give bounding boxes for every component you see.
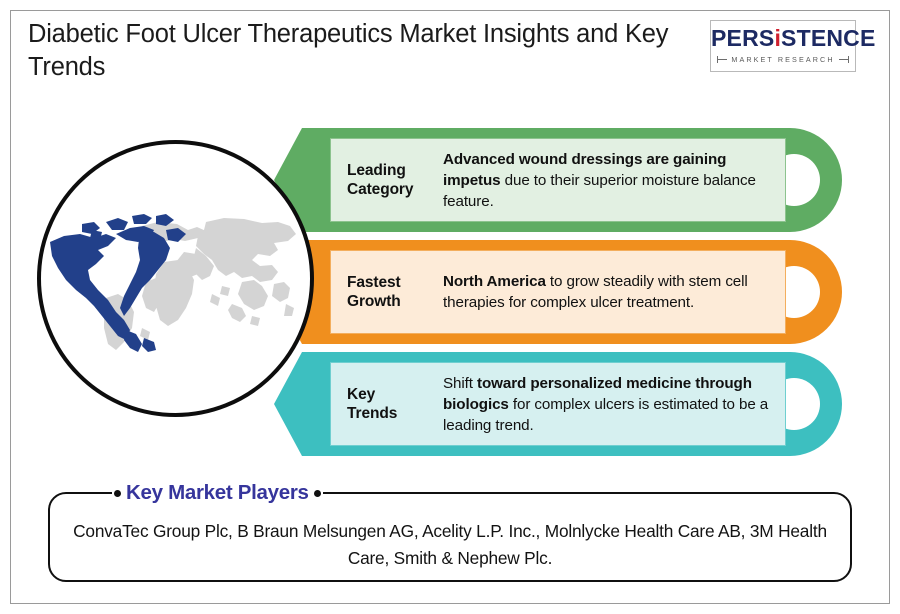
- bullet-dot-left-icon: [114, 490, 121, 497]
- band-label: Fastest Growth: [331, 273, 443, 311]
- band-label-line1: Key: [347, 386, 375, 403]
- key-market-players-list: ConvaTec Group Plc, B Braun Melsungen AG…: [72, 518, 828, 572]
- band-text: North America to grow steadily with stem…: [443, 271, 785, 313]
- key-market-players-box: Key Market Players ConvaTec Group Plc, B…: [48, 492, 852, 582]
- band-label: Key Trends: [331, 385, 443, 423]
- infographic-root: Diabetic Foot Ulcer Therapeutics Market …: [0, 0, 900, 614]
- band-label-line2: Trends: [347, 405, 397, 422]
- band-label: Leading Category: [331, 161, 443, 199]
- key-market-players-title: Key Market Players: [126, 481, 309, 505]
- band-text-bold: North America: [443, 273, 546, 290]
- band-panel: Key Trends Shift toward personalized med…: [330, 362, 786, 446]
- band-label-line2: Growth: [347, 293, 401, 310]
- band-label-line1: Fastest: [347, 274, 401, 291]
- key-market-players-title-group: Key Market Players: [112, 480, 323, 506]
- band-label-line2: Category: [347, 181, 413, 198]
- band-text-lead: Shift: [443, 375, 477, 392]
- band-text: Shift toward personalized medicine throu…: [443, 373, 785, 436]
- band-label-line1: Leading: [347, 162, 406, 179]
- world-map-icon: [46, 208, 314, 358]
- world-map-circle: [37, 140, 314, 417]
- bullet-dot-right-icon: [314, 490, 321, 497]
- band-text: Advanced wound dressings are gaining imp…: [443, 149, 785, 212]
- band-panel: Fastest Growth North America to grow ste…: [330, 250, 786, 334]
- band-panel: Leading Category Advanced wound dressing…: [330, 138, 786, 222]
